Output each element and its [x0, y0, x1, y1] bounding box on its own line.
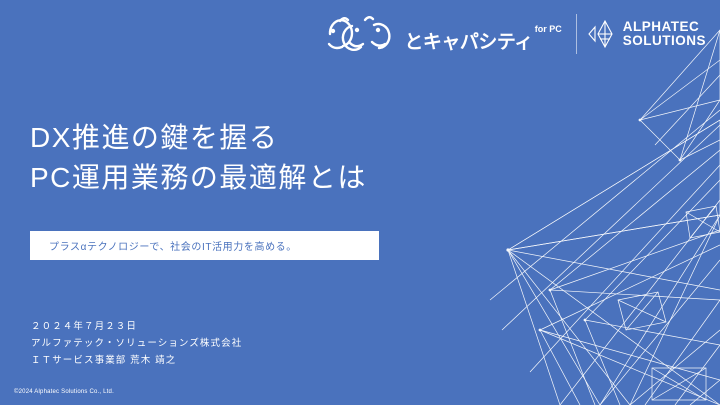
brand-logo-sup-label: for PC	[535, 25, 562, 56]
meta-date: ２０２４年７月２３日	[31, 319, 242, 336]
page-title: DX推進の鍵を握る PC運用業務の最適解とは	[30, 118, 367, 198]
footer-copyright: ©2024 Alphatec Solutions Co., Ltd.	[14, 389, 114, 395]
company-logo: ALPHATEC SOLUTIONS	[587, 17, 706, 51]
brand-logo-text: とキャパシティ	[404, 33, 532, 56]
meta-department: ＩＴサービス事業部 荒木 靖之	[31, 353, 242, 370]
meta-company: アルファテック・ソリューションズ株式会社	[31, 336, 242, 353]
piyomaru-character-logo-icon	[320, 12, 404, 56]
title-line-1: DX推進の鍵を握る	[30, 118, 367, 158]
brand-logo: とキャパシティ for PC	[320, 12, 561, 56]
title-line-2: PC運用業務の最適解とは	[30, 158, 367, 198]
presenter-meta: ２０２４年７月２３日 アルファテック・ソリューションズ株式会社 ＩＴサービス事業…	[31, 319, 242, 370]
tagline-text: プラスαテクノロジーで、社会のIT活用力を高める。	[30, 238, 297, 253]
presentation-slide: とキャパシティ for PC ALPHATEC SOLUTIONS DX推進の鍵	[0, 0, 720, 405]
company-logo-text: ALPHATEC SOLUTIONS	[623, 20, 706, 48]
alphatec-diamond-icon	[587, 17, 617, 51]
company-logo-line2: SOLUTIONS	[623, 34, 706, 48]
wireframe-artwork	[390, 0, 720, 405]
slide-header: とキャパシティ for PC ALPHATEC SOLUTIONS	[320, 8, 706, 60]
header-divider	[576, 14, 577, 54]
company-logo-line1: ALPHATEC	[623, 20, 706, 34]
tagline-box: プラスαテクノロジーで、社会のIT活用力を高める。	[30, 231, 379, 260]
